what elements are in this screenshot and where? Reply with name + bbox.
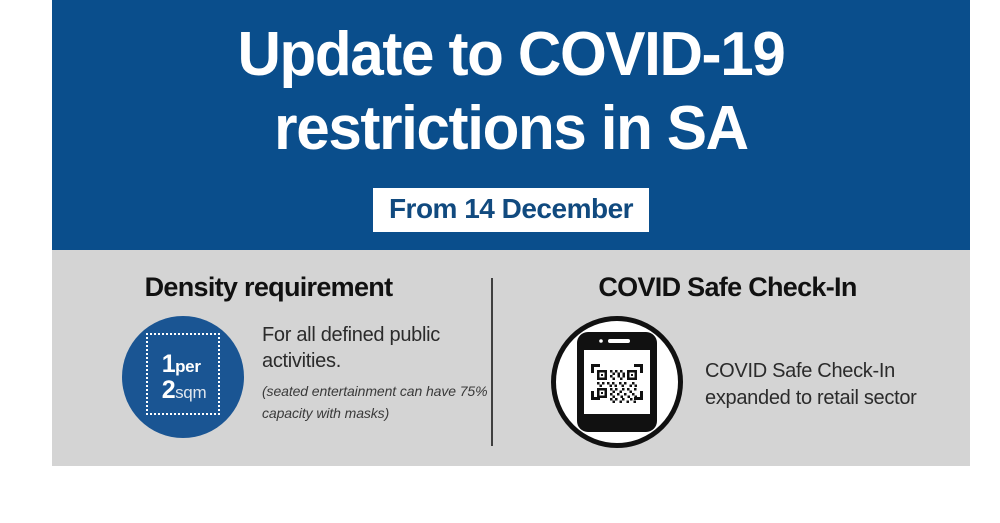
- checkin-body-text: COVID Safe Check-In expanded to retail s…: [705, 358, 970, 412]
- density-text-block: For all defined public activities. (seat…: [244, 316, 491, 424]
- density-ratio-text: 1per 2sqm: [160, 352, 207, 403]
- density-ratio-line-1: 1per: [162, 352, 207, 377]
- density-ratio-badge: 1per 2sqm: [122, 316, 244, 438]
- density-body-text: For all defined public activities.: [262, 322, 491, 374]
- header-content: Update to COVID-19 restrictions in SA Fr…: [52, 0, 970, 250]
- density-persons-count: 1: [162, 350, 175, 378]
- density-per-label: per: [175, 357, 201, 376]
- density-section-title: Density requirement: [52, 272, 491, 302]
- effective-date-label: From 14 December: [389, 193, 633, 224]
- page-title: Update to COVID-19 restrictions in SA: [238, 0, 785, 166]
- infographic-card: Update to COVID-19 restrictions in SA Fr…: [52, 0, 970, 466]
- checkin-text-block: COVID Safe Check-In expanded to retail s…: [683, 316, 970, 412]
- effective-date-badge: From 14 December: [373, 188, 649, 232]
- density-area-count: 2: [162, 376, 175, 404]
- density-area-unit: sqm: [175, 383, 206, 402]
- density-requirement-section: Density requirement 1per 2sqm For all de: [52, 250, 491, 466]
- details-panel: Density requirement 1per 2sqm For all de: [52, 250, 970, 466]
- checkin-section-title: COVID Safe Check-In: [493, 272, 970, 302]
- checkin-badge: [551, 316, 683, 448]
- density-ratio-line-2: 2sqm: [162, 378, 207, 403]
- density-content-row: 1per 2sqm For all defined public activit…: [52, 316, 491, 438]
- phone-qr-code-icon: [575, 330, 659, 434]
- page-title-line-1: Update to COVID-19: [238, 18, 785, 92]
- header-banner: Update to COVID-19 restrictions in SA Fr…: [52, 0, 970, 250]
- covid-safe-checkin-section: COVID Safe Check-In: [493, 250, 970, 466]
- checkin-content-row: COVID Safe Check-In expanded to retail s…: [493, 316, 970, 448]
- page-title-line-2: restrictions in SA: [238, 92, 785, 166]
- density-note-text: (seated entertainment can have 75% capac…: [262, 380, 491, 424]
